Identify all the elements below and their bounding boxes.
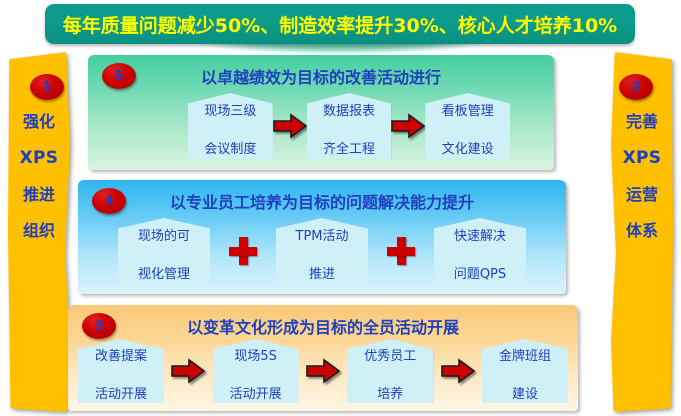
process-box-line2: 推进 bbox=[296, 262, 349, 283]
process-box[interactable]: TPM活动 推进 bbox=[276, 218, 368, 284]
right-banner-words: 完善 XPS 运营 体系 bbox=[611, 114, 673, 239]
panel-5-title: 以卓越绩效为目标的改善活动进行 bbox=[88, 64, 554, 88]
right-arrow-icon bbox=[273, 113, 307, 139]
left-banner: 1 强化 XPS 推进 组织 bbox=[8, 52, 70, 412]
panel-improvement-activities: 5 以卓越绩效为目标的改善活动进行 现场三级 会议制度 数据报表 齐全工程 bbox=[88, 55, 554, 170]
process-box-line2: 活动开展 bbox=[230, 382, 282, 403]
process-box-line1: 看板管理 bbox=[442, 99, 494, 120]
panel-4-number-badge: 4 bbox=[92, 188, 126, 214]
right-banner-word-4: 体系 bbox=[626, 223, 658, 239]
process-box-line1: 现场的可 bbox=[138, 224, 190, 245]
right-banner-number-badge: 2 bbox=[619, 74, 653, 100]
right-banner-word-2: XPS bbox=[623, 150, 662, 167]
process-box-line1: 优秀员工 bbox=[364, 344, 416, 365]
process-box-line2: 视化管理 bbox=[138, 262, 190, 283]
panel-5-number-badge: 5 bbox=[102, 63, 136, 89]
process-box-line2: 齐全工程 bbox=[323, 137, 375, 158]
right-arrow-icon bbox=[171, 358, 205, 384]
plus-icon bbox=[386, 236, 416, 266]
header-title: 每年质量问题减少50%、制造效率提升30%、核心人才培养10% bbox=[63, 11, 617, 38]
process-box-line1: 金牌班组 bbox=[499, 344, 551, 365]
panel-problem-solving: 4 以专业员工培养为目标的问题解决能力提升 现场的可 视化管理 TPM活动 推进 bbox=[78, 180, 566, 294]
left-banner-word-4: 组织 bbox=[23, 223, 55, 239]
left-banner-number-badge: 1 bbox=[30, 74, 64, 100]
right-arrow-icon bbox=[391, 113, 425, 139]
panel-3-title: 以变革文化形成为目标的全员活动开展 bbox=[68, 314, 578, 338]
process-box[interactable]: 优秀员工 培养 bbox=[347, 339, 433, 403]
left-banner-word-1: 强化 bbox=[23, 114, 55, 130]
process-box[interactable]: 数据报表 齐全工程 bbox=[307, 93, 392, 159]
panel-3-number-badge: 3 bbox=[82, 313, 116, 339]
process-box[interactable]: 现场5S 活动开展 bbox=[213, 339, 299, 403]
process-box[interactable]: 现场的可 视化管理 bbox=[118, 218, 210, 284]
process-box-line1: 改善提案 bbox=[95, 344, 147, 365]
process-box-line2: 活动开展 bbox=[95, 382, 147, 403]
panel-all-employee-activities: 3 以变革文化形成为目标的全员活动开展 改善提案 活动开展 现场5S 活动开展 bbox=[68, 305, 578, 411]
left-banner-words: 强化 XPS 推进 组织 bbox=[8, 114, 70, 239]
process-box-line1: 数据报表 bbox=[323, 99, 375, 120]
left-banner-word-3: 推进 bbox=[23, 187, 55, 203]
process-box[interactable]: 快速解决 问题QPS bbox=[434, 218, 526, 284]
process-box-line2: 会议制度 bbox=[204, 137, 256, 158]
plus-icon bbox=[228, 236, 258, 266]
process-box[interactable]: 改善提案 活动开展 bbox=[78, 339, 164, 403]
process-box-line2: 文化建设 bbox=[442, 137, 494, 158]
process-box-line1: 现场三级 bbox=[204, 99, 256, 120]
process-box-line1: 快速解决 bbox=[454, 224, 506, 245]
process-box-line1: 现场5S bbox=[230, 344, 282, 365]
right-banner-word-3: 运营 bbox=[626, 187, 658, 203]
process-box-line2: 培养 bbox=[364, 382, 416, 403]
panel-4-title: 以专业员工培养为目标的问题解决能力提升 bbox=[78, 189, 566, 213]
process-box[interactable]: 现场三级 会议制度 bbox=[188, 93, 273, 159]
right-arrow-icon bbox=[441, 358, 475, 384]
left-banner-word-2: XPS bbox=[20, 150, 59, 167]
header-banner: 每年质量问题减少50%、制造效率提升30%、核心人才培养10% bbox=[45, 4, 635, 44]
right-banner-word-1: 完善 bbox=[626, 114, 658, 130]
right-arrow-icon bbox=[306, 358, 340, 384]
process-box-line2: 建设 bbox=[499, 382, 551, 403]
process-box[interactable]: 看板管理 文化建设 bbox=[425, 93, 510, 159]
slide-canvas: 每年质量问题减少50%、制造效率提升30%、核心人才培养10% 1 强化 XPS… bbox=[0, 0, 681, 416]
process-box[interactable]: 金牌班组 建设 bbox=[482, 339, 568, 403]
right-banner: 2 完善 XPS 运营 体系 bbox=[611, 52, 673, 412]
process-box-line2: 问题QPS bbox=[454, 262, 506, 283]
process-box-line1: TPM活动 bbox=[296, 224, 349, 245]
